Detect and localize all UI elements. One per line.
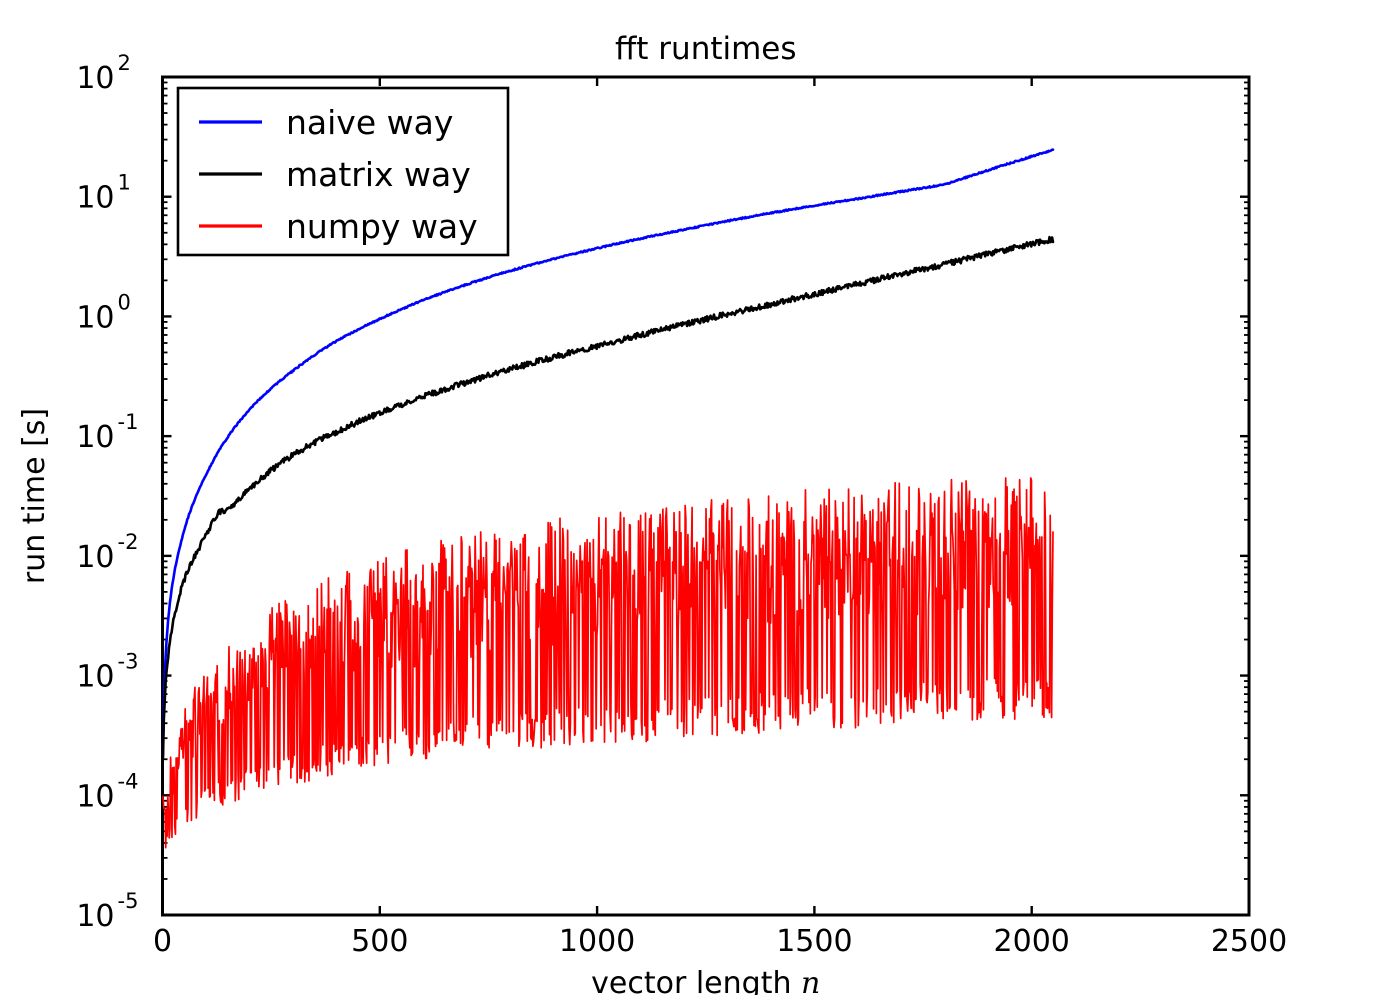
figure-canvas: 05001000150020002500 10-510-410-310-210-… [0, 0, 1376, 995]
svg-text:0: 0 [118, 290, 131, 314]
x-axis-title: vector length n [591, 966, 820, 995]
svg-text:-3: -3 [118, 650, 139, 674]
svg-text:10: 10 [76, 61, 114, 96]
svg-text:-4: -4 [118, 769, 139, 793]
legend-label-naive-way: naive way [286, 103, 453, 142]
svg-text:10: 10 [76, 181, 114, 216]
x-axis-title-symbol: n [801, 966, 820, 995]
svg-text:vector length n: vector length n [591, 966, 820, 995]
x-axis-title-text: vector length [591, 966, 801, 995]
svg-text:10: 10 [76, 420, 114, 455]
x-tick-label: 1000 [559, 924, 635, 959]
chart-plot[interactable]: 05001000150020002500 10-510-410-310-210-… [0, 0, 1376, 995]
x-tick-label: 0 [153, 924, 172, 959]
legend-label-numpy-way: numpy way [286, 207, 478, 246]
svg-text:10: 10 [76, 300, 114, 335]
x-tick-label: 2500 [1211, 924, 1287, 959]
x-tick-label: 500 [351, 924, 408, 959]
svg-text:1: 1 [118, 171, 131, 195]
svg-text:-1: -1 [118, 410, 139, 434]
y-axis-title: run time [s] [17, 408, 52, 584]
svg-text:10: 10 [76, 899, 114, 934]
svg-text:10: 10 [76, 779, 114, 814]
legend-label-matrix-way: matrix way [286, 155, 471, 194]
svg-text:2: 2 [118, 51, 131, 75]
svg-text:10: 10 [76, 660, 114, 695]
chart-title: fft runtimes [615, 31, 797, 67]
x-tick-label: 2000 [994, 924, 1070, 959]
x-tick-label: 1500 [776, 924, 852, 959]
svg-text:-2: -2 [118, 530, 139, 554]
svg-text:-5: -5 [118, 889, 139, 913]
svg-text:10: 10 [76, 540, 114, 575]
chart-legend[interactable]: naive waymatrix waynumpy way [178, 88, 508, 255]
